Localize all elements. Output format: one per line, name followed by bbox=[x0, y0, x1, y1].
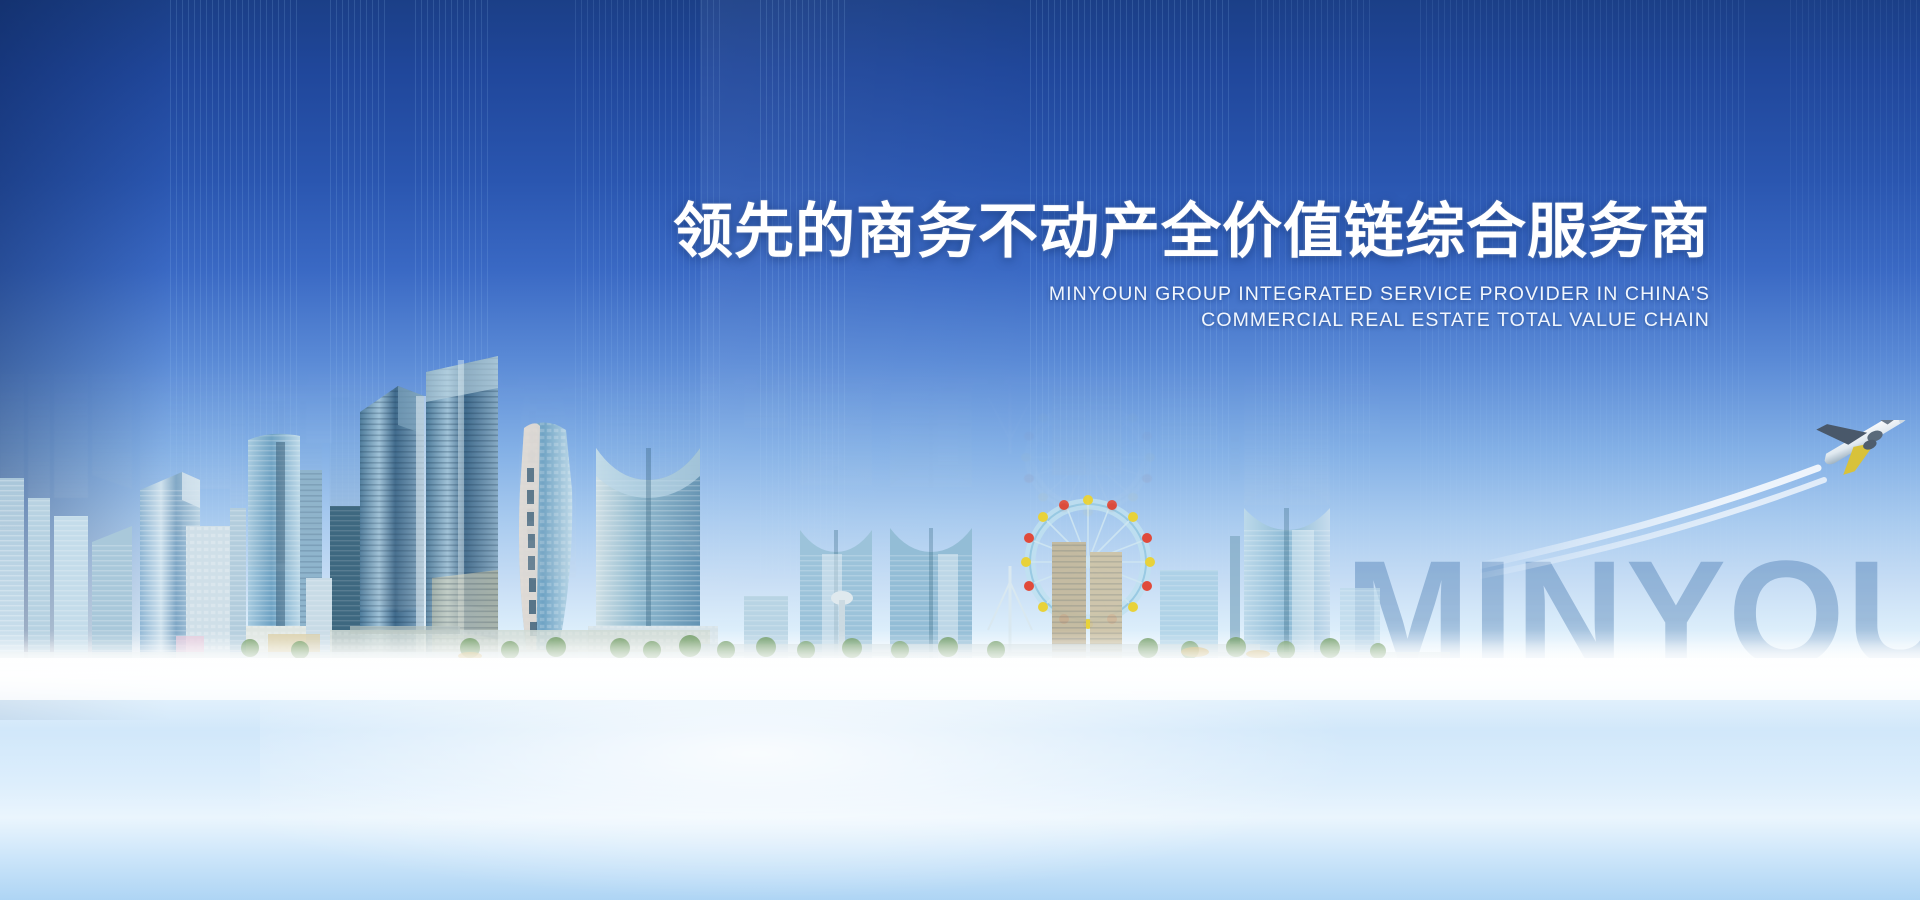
subtitle: MINYOUN GROUP INTEGRATED SERVICE PROVIDE… bbox=[600, 281, 1710, 334]
water-surface bbox=[0, 658, 1920, 900]
skyline-hero-towers bbox=[360, 356, 718, 670]
page-title: 领先的商务不动产全价值链综合服务商 bbox=[600, 200, 1710, 265]
city-skyline bbox=[0, 330, 1920, 670]
subtitle-line-1: MINYOUN GROUP INTEGRATED SERVICE PROVIDE… bbox=[600, 281, 1710, 307]
headline-block: 领先的商务不动产全价值链综合服务商 MINYOUN GROUP INTEGRAT… bbox=[600, 200, 1710, 333]
hero-banner: MINYOUN 领先的商务不动产全价值链综合服务商 MINYOUN GROUP … bbox=[0, 0, 1920, 900]
